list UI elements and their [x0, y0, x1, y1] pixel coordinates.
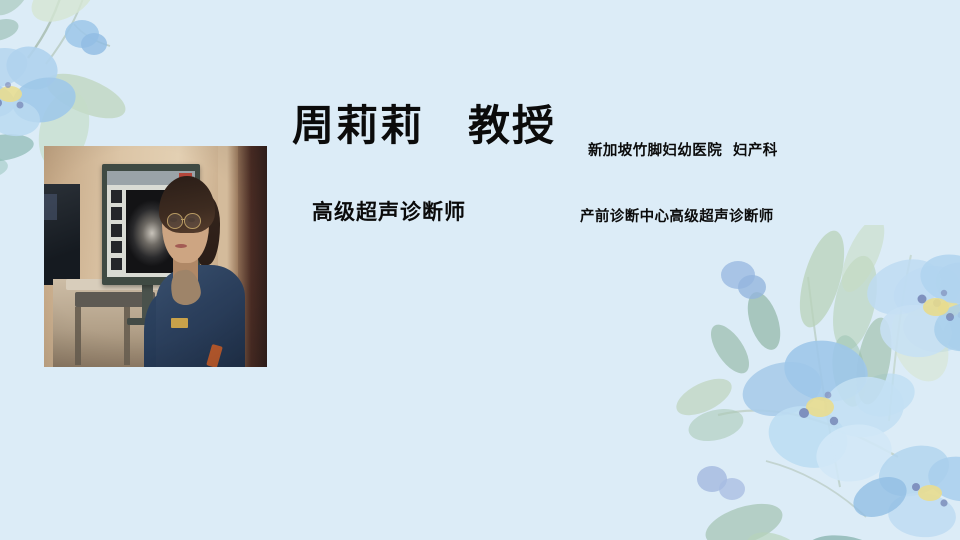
watercolor-flower-icon [815, 245, 960, 445]
page-title: 周莉莉 教授 [292, 104, 556, 148]
photo-scene [44, 146, 267, 367]
watercolor-flower-icon [658, 225, 960, 540]
affiliation-line-2: 产前诊断中心高级超声诊断师 [580, 206, 778, 228]
photo-vignette [44, 146, 267, 367]
affiliation-block: 新加坡竹脚妇幼医院 妇产科 产前诊断中心高级超声诊断师 [580, 96, 778, 272]
affiliation-line-1: 新加坡竹脚妇幼医院 妇产科 [580, 140, 778, 162]
role-title: 高级超声诊断师 [312, 196, 466, 226]
slide-canvas: 周莉莉 教授 新加坡竹脚妇幼医院 妇产科 产前诊断中心高级超声诊断师 高级超声诊… [0, 0, 960, 540]
portrait-photo [44, 146, 267, 367]
